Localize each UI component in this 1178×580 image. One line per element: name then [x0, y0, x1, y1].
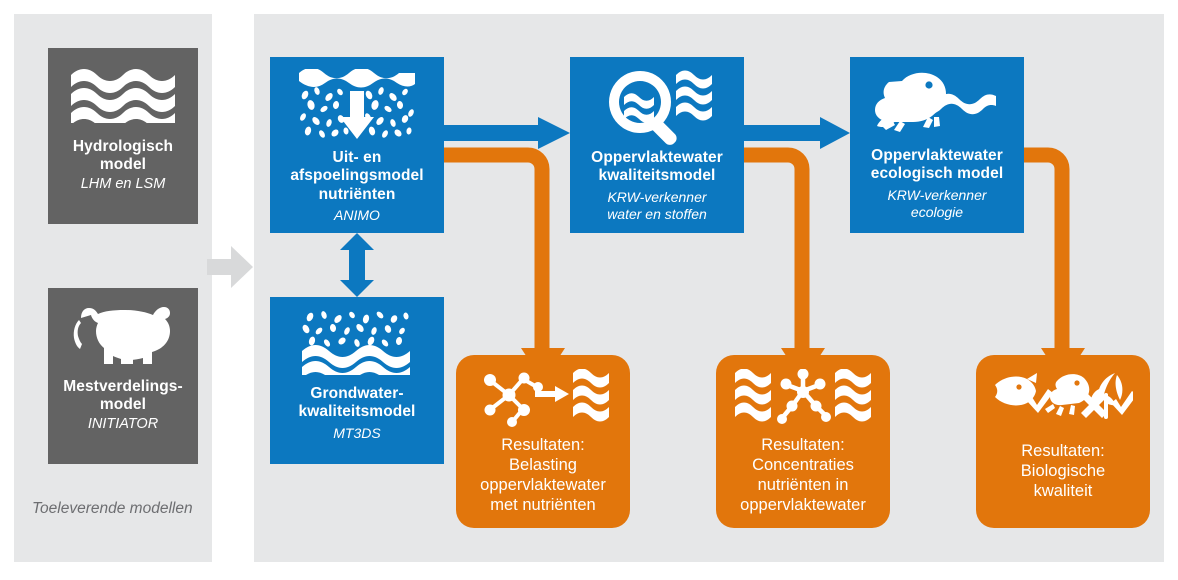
molecule-to-waves-icon: [477, 369, 609, 427]
water-infiltration-icon: [299, 69, 415, 143]
box-resultaten-concentraties-nutrienten[interactable]: Resultaten: Concentraties nutriënten in …: [716, 355, 890, 528]
box-resultaten-biologische-kwaliteit[interactable]: Resultaten: Biologische kwaliteit: [976, 355, 1150, 528]
box-title-line1: Oppervlaktewater: [871, 147, 1004, 165]
result-line4: met nutriënten: [480, 495, 606, 515]
result-line1: Resultaten:: [740, 435, 866, 455]
box-title-line1: Uit- en: [290, 149, 423, 167]
box-title-line2: model: [73, 156, 173, 174]
box-title-line2: ecologisch model: [871, 165, 1004, 183]
result-line3: oppervlaktewater: [480, 475, 606, 495]
box-oppervlaktewater-kwaliteitsmodel[interactable]: Oppervlaktewater kwaliteitsmodel KRW-ver…: [570, 57, 744, 233]
box-oppervlaktewater-ecologisch-model[interactable]: Oppervlaktewater ecologisch model KRW-ve…: [850, 57, 1024, 233]
result-line1: Resultaten:: [480, 435, 606, 455]
box-title-line1: Mestverdelings-: [63, 378, 183, 396]
box-subtitle-line2: ecologie: [911, 204, 963, 221]
box-hydrologisch-model[interactable]: Hydrologisch model LHM en LSM: [48, 48, 198, 224]
box-subtitle-line1: MT3DS: [333, 425, 380, 442]
box-subtitle: INITIATOR: [88, 416, 158, 433]
box-uit-en-afspoelingsmodel-nutrienten[interactable]: Uit- en afspoelingsmodel nutriënten ANIM…: [270, 57, 444, 233]
box-resultaten-belasting-oppervlaktewater[interactable]: Resultaten: Belasting oppervlaktewater m…: [456, 355, 630, 528]
box-title-line2: kwaliteitsmodel: [591, 167, 723, 185]
box-title-line1: Grondwater-: [299, 385, 416, 403]
result-line2: Belasting: [480, 455, 606, 475]
result-line1: Resultaten:: [1021, 441, 1105, 461]
supplying-models-caption: Toeleverende modellen: [32, 500, 212, 518]
waves-molecule-waves-icon: [735, 369, 871, 427]
result-line3: nutriënten in: [740, 475, 866, 495]
box-subtitle-line1: KRW-verkenner: [887, 187, 986, 204]
magnifier-water-icon: [602, 69, 712, 145]
box-title-line2: afspoelingsmodel: [290, 167, 423, 185]
box-title-line3: nutriënten: [290, 186, 423, 204]
fish-frog-plant-icon: [993, 371, 1133, 421]
result-line2: Concentraties: [740, 455, 866, 475]
groundwater-icon: [302, 311, 412, 375]
box-subtitle-line1: ANIMO: [334, 207, 380, 224]
result-line3: kwaliteit: [1021, 481, 1105, 501]
box-grondwaterkwaliteitsmodel[interactable]: Grondwater- kwaliteitsmodel MT3DS: [270, 297, 444, 464]
frog-water-icon: [872, 71, 1002, 143]
box-title-line2: model: [63, 396, 183, 414]
box-title-line1: Hydrologisch: [73, 138, 173, 156]
cow-pig-icon: [67, 304, 179, 366]
grey-arrow-icon: [207, 246, 253, 288]
box-title-line2: kwaliteitsmodel: [299, 403, 416, 421]
box-subtitle-line2: water en stoffen: [607, 206, 707, 223]
result-line2: Biologische: [1021, 461, 1105, 481]
box-title-line1: Oppervlaktewater: [591, 149, 723, 167]
box-subtitle-line1: KRW-verkenner: [607, 189, 706, 206]
result-line4: oppervlaktewater: [740, 495, 866, 515]
waves-icon: [71, 68, 175, 124]
box-mestverdelingsmodel[interactable]: Mestverdelings- model INITIATOR: [48, 288, 198, 464]
box-subtitle: LHM en LSM: [81, 176, 166, 193]
